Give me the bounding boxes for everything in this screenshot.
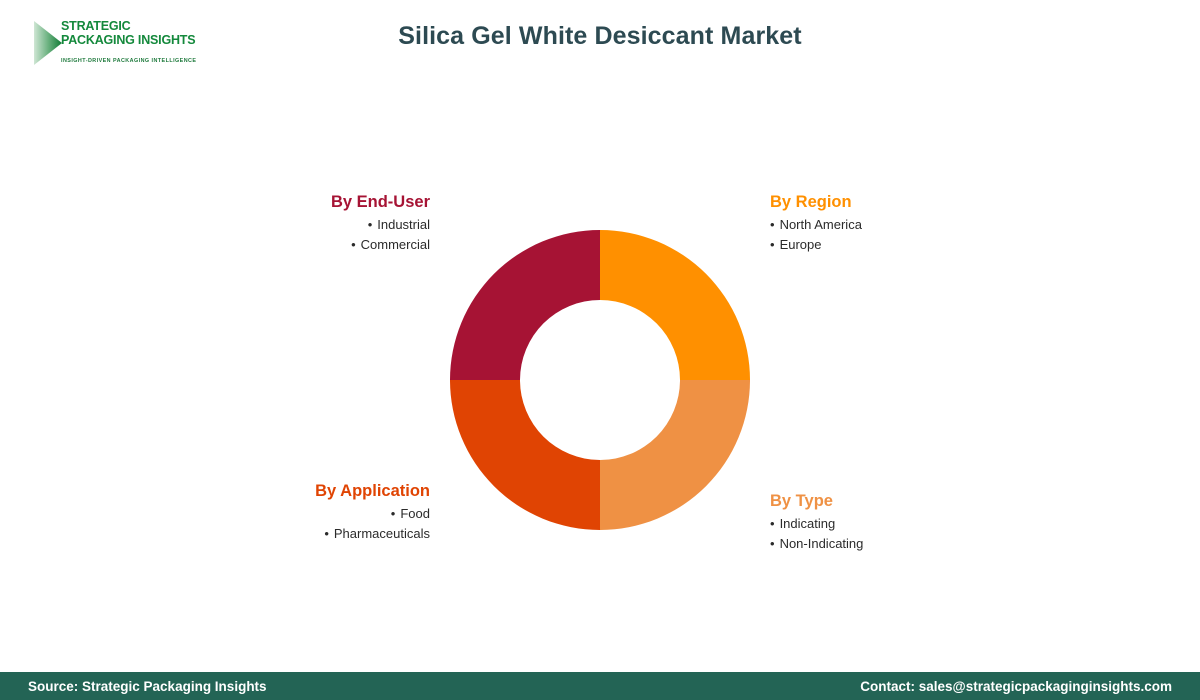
donut-segment-type[interactable] bbox=[600, 380, 750, 530]
list-item: Non-Indicating bbox=[770, 534, 1020, 554]
logo-tagline: INSIGHT-DRIVEN PACKAGING INTELLIGENCE bbox=[61, 58, 211, 64]
list-item: North America bbox=[770, 215, 1020, 235]
donut-chart-svg bbox=[450, 230, 750, 530]
segment-heading-end-user: By End-User bbox=[180, 193, 430, 212]
donut-segment-region[interactable] bbox=[600, 230, 750, 380]
segment-label-application: By Application Food Pharmaceuticals bbox=[180, 482, 430, 544]
segment-heading-region: By Region bbox=[770, 193, 1020, 212]
segment-list-region: North America Europe bbox=[770, 215, 1020, 255]
segment-heading-type: By Type bbox=[770, 492, 1020, 511]
footer-source: Source: Strategic Packaging Insights bbox=[28, 679, 267, 694]
donut-chart bbox=[450, 230, 750, 530]
segment-heading-application: By Application bbox=[180, 482, 430, 501]
segment-label-end-user: By End-User Industrial Commercial bbox=[180, 193, 430, 255]
segment-list-end-user: Industrial Commercial bbox=[180, 215, 430, 255]
list-item: Europe bbox=[770, 235, 1020, 255]
list-item: Food bbox=[180, 504, 430, 524]
segment-list-application: Food Pharmaceuticals bbox=[180, 504, 430, 544]
footer-contact[interactable]: Contact: sales@strategicpackaginginsight… bbox=[860, 679, 1172, 694]
infographic-page: STRATEGIC PACKAGING INSIGHTS INSIGHT-DRI… bbox=[0, 0, 1200, 700]
donut-segment-end-user[interactable] bbox=[450, 230, 600, 380]
list-item: Pharmaceuticals bbox=[180, 524, 430, 544]
page-title: Silica Gel White Desiccant Market bbox=[0, 22, 1200, 51]
list-item: Industrial bbox=[180, 215, 430, 235]
segment-label-type: By Type Indicating Non-Indicating bbox=[770, 492, 1020, 554]
footer-bar: Source: Strategic Packaging Insights Con… bbox=[0, 672, 1200, 700]
list-item: Indicating bbox=[770, 514, 1020, 534]
segment-label-region: By Region North America Europe bbox=[770, 193, 1020, 255]
segment-list-type: Indicating Non-Indicating bbox=[770, 514, 1020, 554]
list-item: Commercial bbox=[180, 235, 430, 255]
donut-segment-application[interactable] bbox=[450, 380, 600, 530]
